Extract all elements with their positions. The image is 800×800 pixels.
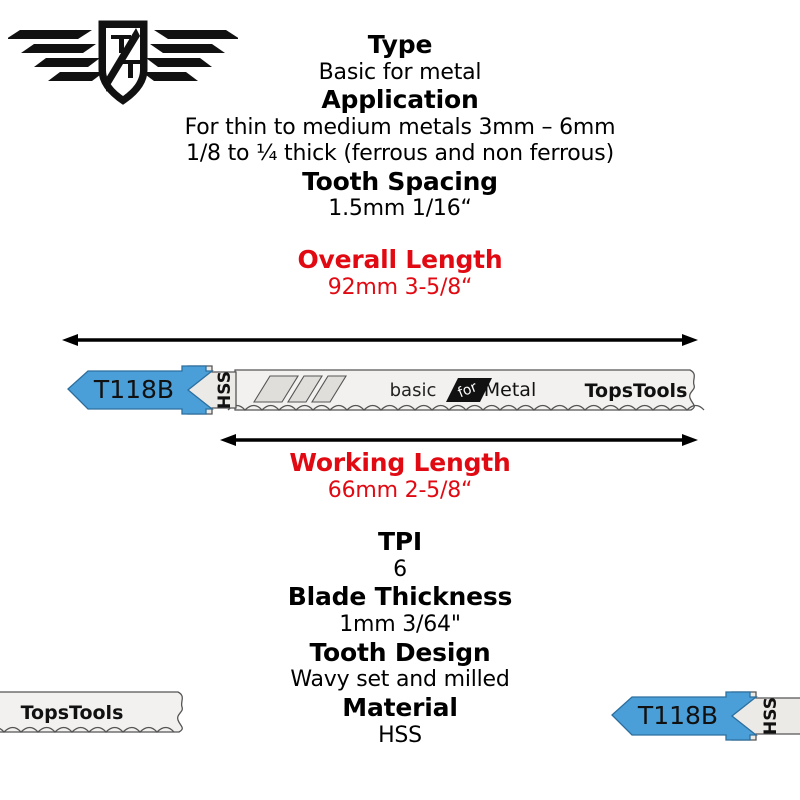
blade-fragment-shank-code: T118B <box>637 701 718 730</box>
overall-length-group: Overall Length 92mm 3-5/8“ <box>0 245 800 300</box>
blade-fragment-shank-right: T118B HSS <box>604 686 800 761</box>
spec-label-tooth-spacing: Tooth Spacing <box>0 167 800 197</box>
spec-value-blade-thickness: 1mm 3/64" <box>0 612 800 638</box>
spec-value-application-1: For thin to medium metals 3mm – 6mm <box>0 115 800 141</box>
blade-text-basic: basic <box>390 380 437 401</box>
blade-fragment-brand-left: TopsTools <box>21 702 124 724</box>
working-length-label: Working Length <box>0 448 800 478</box>
spec-label-blade-thickness: Blade Thickness <box>0 582 800 612</box>
spec-value-tpi: 6 <box>0 557 800 583</box>
overall-length-arrow-icon <box>62 330 698 350</box>
blade-text-metal: Metal <box>484 379 536 401</box>
working-length-arrow-icon <box>220 430 698 450</box>
overall-length-value: 92mm 3-5/8“ <box>0 275 800 301</box>
blade-brand-text: TopsTools <box>585 380 688 402</box>
blade-fragment-tip-left: TopsTools <box>0 686 197 761</box>
working-length-group: Working Length 66mm 2-5/8“ <box>0 448 800 503</box>
spec-value-type: Basic for metal <box>0 60 800 86</box>
spec-value-tooth-spacing: 1.5mm 1/16“ <box>0 196 800 222</box>
spec-label-type: Type <box>0 30 800 60</box>
spec-label-tooth-design: Tooth Design <box>0 638 800 668</box>
working-length-value: 66mm 2-5/8“ <box>0 478 800 504</box>
blade-fragment-material-mark: HSS <box>761 697 781 735</box>
jigsaw-blade-illustration: T118B HSS basic for Metal TopsTools <box>60 358 705 430</box>
blade-shank-code: T118B <box>93 375 174 404</box>
overall-length-label: Overall Length <box>0 245 800 275</box>
specs-top-group: Type Basic for metal Application For thi… <box>0 30 800 222</box>
spec-label-application: Application <box>0 85 800 115</box>
spec-label-tpi: TPI <box>0 527 800 557</box>
spec-value-application-2: 1/8 to ¼ thick (ferrous and non ferrous) <box>0 141 800 167</box>
blade-material-mark: HSS <box>215 371 235 409</box>
